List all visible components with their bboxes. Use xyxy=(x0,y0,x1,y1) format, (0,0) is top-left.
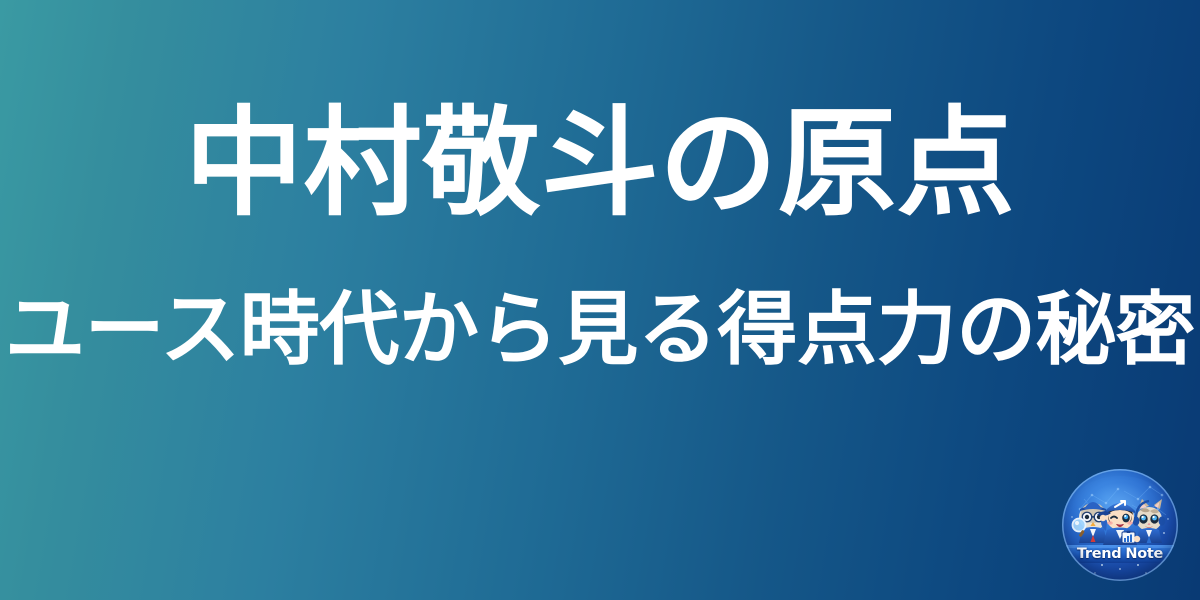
logo-wordmark: Trend Note xyxy=(1062,545,1178,563)
trend-note-logo[interactable]: Trend Note xyxy=(1062,469,1178,581)
clipboard-chart-icon xyxy=(1122,531,1135,543)
logo-artwork xyxy=(1062,469,1178,581)
page-subtitle: ユース時代から見る得点力の秘密 xyxy=(5,290,1195,370)
logo-word-trend: Trend xyxy=(1077,546,1122,562)
thumbnail-canvas: 中村敬斗の原点 ユース時代から見る得点力の秘密 xyxy=(0,0,1200,600)
logo-word-note: Note xyxy=(1125,546,1163,562)
page-title: 中村敬斗の原点 xyxy=(185,104,1015,222)
headline-block: 中村敬斗の原点 ユース時代から見る得点力の秘密 xyxy=(0,0,1200,600)
